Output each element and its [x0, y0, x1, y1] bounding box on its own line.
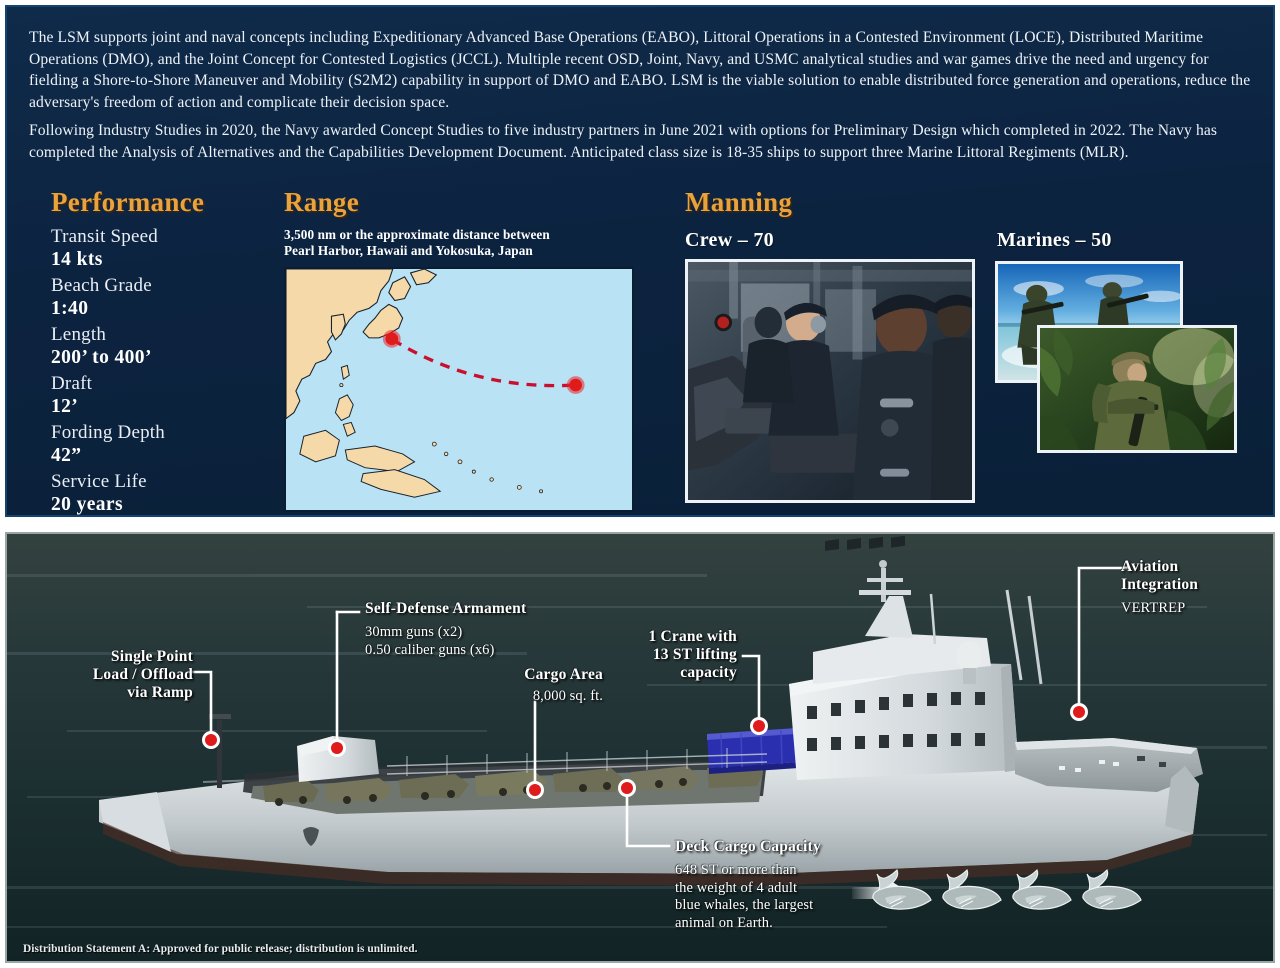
marine-jungle-photo: [1037, 325, 1237, 453]
range-heading: Range: [284, 187, 636, 218]
manning-heading: Manning: [685, 187, 1255, 218]
crew-count-label: Crew – 70: [685, 229, 774, 252]
range-description-line-2: Pearl Harbor, Hawaii and Yokosuka, Japan: [284, 243, 533, 258]
intro-paragraph-1: The LSM supports joint and naval concept…: [29, 27, 1255, 113]
spec-fording-depth: Fording Depth 42”: [51, 422, 271, 468]
marine-jungle-graphic: [1040, 328, 1234, 450]
range-description: 3,500 nm or the approximate distance bet…: [284, 227, 636, 259]
range-map: [284, 267, 634, 512]
callout-title-line-1: Single Point: [53, 648, 193, 666]
whale-icon-group: [867, 864, 1157, 924]
spec-value: 14 kts: [51, 248, 271, 272]
distribution-statement: Distribution Statement A: Approved for p…: [23, 943, 418, 955]
spec-length: Length 200’ to 400’: [51, 324, 271, 370]
callout-title: Deck Cargo Capacity: [675, 838, 865, 856]
callout-body-line-1: 648 ST or more than: [675, 862, 865, 880]
callout-deck-cargo-capacity: Deck Cargo Capacity 648 ST or more than …: [675, 838, 865, 932]
spec-value: 20 years: [51, 493, 271, 517]
crew-photo-graphic: [688, 262, 972, 500]
marines-count-label: Marines – 50: [997, 229, 1112, 252]
callout-title-line-2: Integration: [1121, 576, 1251, 594]
callout-body-line-3: blue whales, the largest: [675, 897, 865, 915]
spec-beach-grade: Beach Grade 1:40: [51, 275, 271, 321]
spec-label: Fording Depth: [51, 422, 271, 444]
spec-label: Service Life: [51, 471, 271, 493]
callout-title-line-3: via Ramp: [53, 684, 193, 702]
spec-label: Draft: [51, 373, 271, 395]
spec-service-life: Service Life 20 years: [51, 471, 271, 517]
specifications-panel: The LSM supports joint and naval concept…: [5, 5, 1275, 517]
callout-body-line-2: the weight of 4 adult: [675, 880, 865, 898]
callout-title: Cargo Area: [483, 666, 603, 684]
whale-icon: [943, 870, 1001, 909]
spec-value: 1:40: [51, 297, 271, 321]
spec-label: Length: [51, 324, 271, 346]
infographic-page: The LSM supports joint and naval concept…: [0, 0, 1280, 968]
spec-value: 12’: [51, 395, 271, 419]
spec-label: Beach Grade: [51, 275, 271, 297]
callout-aviation-integration: Aviation Integration VERTREP: [1121, 558, 1251, 618]
callout-body: 8,000 sq. ft.: [483, 688, 603, 706]
spec-transit-speed: Transit Speed 14 kts: [51, 226, 271, 272]
callout-body-line-4: animal on Earth.: [675, 915, 865, 933]
performance-heading: Performance: [51, 187, 271, 218]
callout-title-line-1: 1 Crane with: [617, 628, 737, 646]
range-description-line-1: 3,500 nm or the approximate distance bet…: [284, 227, 550, 242]
spec-draft: Draft 12’: [51, 373, 271, 419]
callout-single-point-load: Single Point Load / Offload via Ramp: [53, 648, 193, 702]
callout-title-line-2: 13 ST lifting: [617, 646, 737, 664]
spec-label: Transit Speed: [51, 226, 271, 248]
performance-section: Performance Transit Speed 14 kts Beach G…: [51, 187, 271, 517]
spec-value: 42”: [51, 444, 271, 468]
callout-cargo-area: Cargo Area 8,000 sq. ft.: [483, 666, 603, 706]
ship-diagram-panel: Single Point Load / Offload via Ramp Sel…: [5, 532, 1275, 963]
callout-body-line-2: 0.50 caliber guns (x6): [365, 642, 595, 660]
callout-title-line-1: Aviation: [1121, 558, 1251, 576]
callout-body-line-1: 30mm guns (x2): [365, 624, 595, 642]
spec-value: 200’ to 400’: [51, 346, 271, 370]
intro-paragraph-2: Following Industry Studies in 2020, the …: [29, 120, 1255, 163]
map-graphic: [286, 269, 632, 510]
range-section: Range 3,500 nm or the approximate distan…: [284, 187, 636, 512]
crew-photo: [685, 259, 975, 503]
callout-self-defense-armament: Self-Defense Armament 30mm guns (x2) 0.5…: [365, 600, 595, 659]
whales-graphic: [867, 864, 1157, 924]
callout-title: Self-Defense Armament: [365, 600, 595, 618]
whale-icon: [873, 870, 931, 909]
callout-title-line-3: capacity: [617, 664, 737, 682]
whale-icon: [1083, 870, 1141, 909]
manning-section: Manning Crew – 70 Marines – 50: [685, 187, 1255, 228]
callout-body: VERTREP: [1121, 600, 1251, 618]
callout-crane: 1 Crane with 13 ST lifting capacity: [617, 628, 737, 682]
whale-icon: [1013, 870, 1071, 909]
callout-title-line-2: Load / Offload: [53, 666, 193, 684]
